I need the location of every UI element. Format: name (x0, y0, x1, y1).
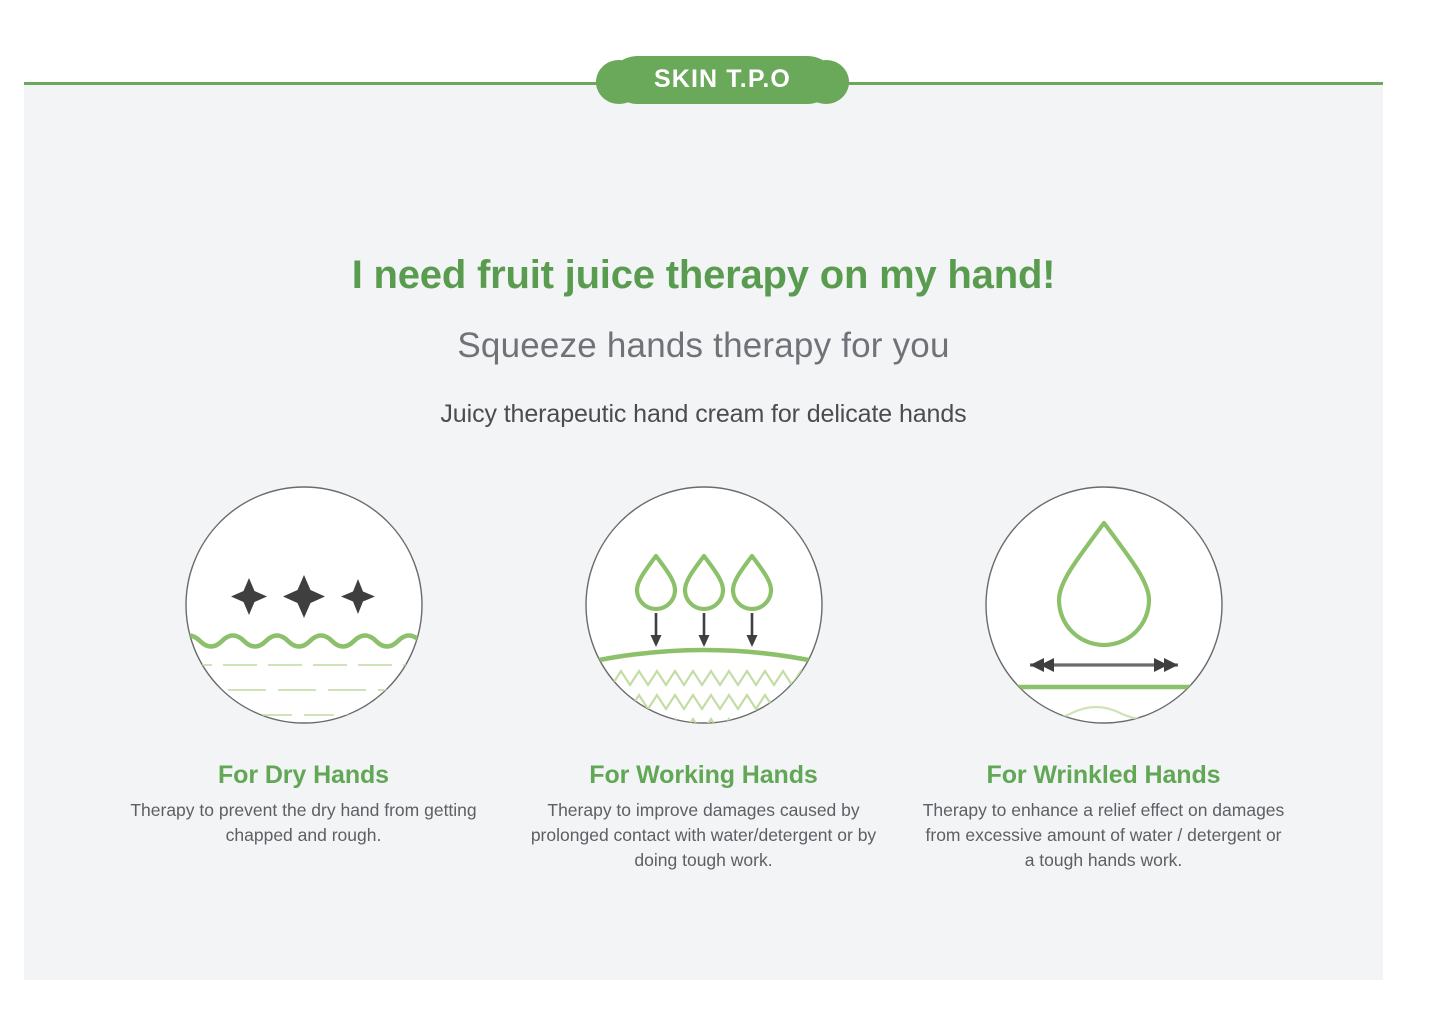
skin-tpo-badge: SKIN T.P.O (610, 56, 835, 104)
card-dry-hands: For Dry Hands Therapy to prevent the dry… (104, 485, 504, 848)
card-description: Therapy to prevent the dry hand from get… (119, 790, 489, 848)
card-description: Therapy to improve damages caused by pro… (519, 790, 889, 873)
page-root: I need fruit juice therapy on my hand! S… (0, 0, 1445, 1016)
card-wrinkled-hands: For Wrinkled Hands Therapy to enhance a … (904, 485, 1304, 873)
card-title: For Dry Hands (218, 725, 389, 790)
headings-block: I need fruit juice therapy on my hand! S… (24, 177, 1383, 429)
card-title: For Working Hands (589, 725, 817, 790)
badge-label: SKIN T.P.O (654, 65, 791, 93)
card-description: Therapy to enhance a relief effect on da… (919, 790, 1289, 873)
page-subtitle: Squeeze hands therapy for you (24, 298, 1383, 366)
page-description: Juicy therapeutic hand cream for delicat… (24, 366, 1383, 429)
sparkles-over-wavy-skin-icon (184, 485, 424, 725)
card-title: For Wrinkled Hands (987, 725, 1221, 790)
page-title: I need fruit juice therapy on my hand! (24, 177, 1383, 298)
droplets-with-down-arrows-icon (584, 485, 824, 725)
card-working-hands: For Working Hands Therapy to improve dam… (504, 485, 904, 873)
benefit-cards: For Dry Hands Therapy to prevent the dry… (24, 485, 1383, 873)
content-panel: I need fruit juice therapy on my hand! S… (24, 82, 1383, 980)
badge-container: SKIN T.P.O (0, 52, 1445, 108)
droplet-with-span-arrow-icon (984, 485, 1224, 725)
